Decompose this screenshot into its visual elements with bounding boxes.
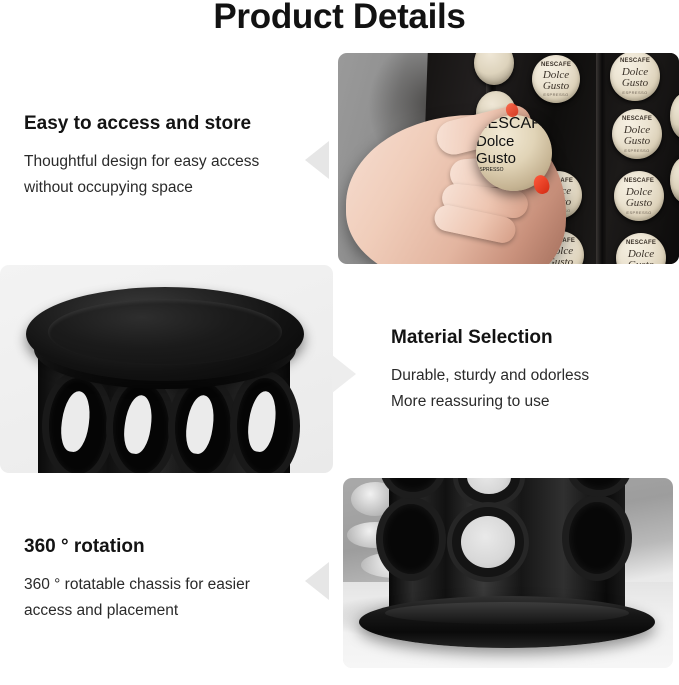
capsule: NESCAFE Dolce Gusto ESPRESSO — [532, 55, 580, 103]
feature-heading-material-selection: Material Selection — [391, 326, 661, 350]
rotating-base-photo — [343, 478, 673, 668]
feature-body-material-selection: Durable, sturdy and odorless More reassu… — [391, 363, 661, 415]
capsule-slot — [168, 375, 238, 473]
capsule-line2: Gusto — [614, 198, 664, 209]
capsule-line2: Gusto — [532, 81, 580, 92]
capsule: NESCAFE Dolce Gusto ESPRESSO — [612, 109, 662, 159]
feature-body-line: More reassuring to use — [391, 389, 661, 415]
capsule-slot — [467, 478, 511, 494]
capsule-slot — [106, 375, 176, 473]
feature-body-line: access and placement — [24, 598, 309, 624]
feature-body-line: without occupying space — [24, 175, 304, 201]
capsule-variant: ESPRESSO — [610, 90, 660, 95]
feature-heading-easy-access: Easy to access and store — [24, 112, 304, 136]
pointer-triangle-left-rotation — [305, 562, 329, 600]
capsule-line1: Dolce — [476, 133, 552, 150]
feature-body-line: Durable, sturdy and odorless — [391, 363, 661, 389]
capsule: NESCAFE Dolce Gusto ESPRESSO — [614, 171, 664, 221]
feature-body-line: Thoughtful design for easy access — [24, 149, 304, 175]
capsule-line2: Gusto — [616, 260, 666, 264]
feature-body-rotation: 360 ° rotatable chassis for easier acces… — [24, 572, 309, 624]
feature-block-rotation: 360 ° rotation 360 ° rotatable chassis f… — [24, 535, 309, 624]
capsule-line2: Gusto — [476, 150, 552, 167]
rotating-base-disc — [359, 596, 655, 648]
page-title: Product Details — [0, 0, 679, 38]
capsule-variant: ESPRESSO — [476, 167, 552, 173]
capsule-slot — [42, 371, 114, 473]
feature-heading-rotation: 360 ° rotation — [24, 535, 309, 559]
capsule-slot — [230, 371, 300, 473]
capsule-slot — [573, 478, 625, 490]
capsule-slot — [383, 504, 439, 574]
capsules-photo: NESCAFE Dolce Gusto ESPRESSO NESCAFE Dol… — [338, 53, 679, 264]
capsule-brand: NESCAFE — [612, 116, 662, 122]
capsule: NESCAFE Dolce Gusto ESPRESSO — [610, 53, 660, 101]
capsule-brand: NESCAFE — [532, 62, 580, 68]
feature-block-material-selection: Material Selection Durable, sturdy and o… — [391, 326, 661, 415]
capsule-brand: NESCAFE — [616, 240, 666, 246]
capsule-line2: Gusto — [612, 136, 662, 147]
capsule-slot — [569, 502, 625, 574]
pointer-triangle-right-material — [332, 355, 356, 393]
feature-body-easy-access: Thoughtful design for easy access withou… — [24, 149, 304, 201]
holder-lid — [26, 287, 304, 381]
holder-cage — [389, 478, 625, 612]
capsule-slot — [461, 516, 515, 568]
capsule-brand: NESCAFE — [614, 178, 664, 184]
capsule-brand: NESCAFE — [610, 58, 660, 64]
rack-divider — [596, 53, 606, 264]
capsule-line2: Gusto — [610, 78, 660, 89]
capsule-variant: ESPRESSO — [532, 92, 580, 97]
pointer-triangle-left-easy-access — [305, 141, 329, 179]
capsule-slot — [387, 478, 439, 492]
feature-block-easy-access: Easy to access and store Thoughtful desi… — [24, 112, 304, 201]
capsule-variant: ESPRESSO — [614, 210, 664, 215]
holder-top-photo — [0, 265, 333, 473]
feature-body-line: 360 ° rotatable chassis for easier — [24, 572, 309, 598]
capsule-variant: ESPRESSO — [612, 148, 662, 153]
